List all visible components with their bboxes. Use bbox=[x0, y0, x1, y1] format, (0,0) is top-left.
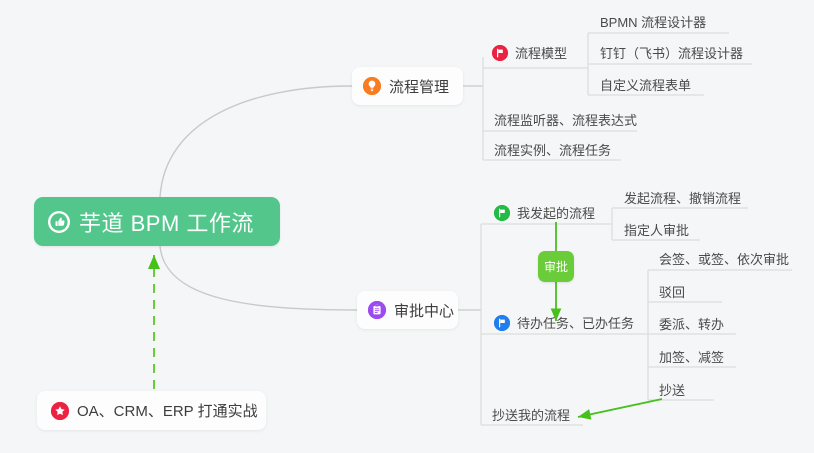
root-label: 芋道 BPM 工作流 bbox=[79, 206, 254, 238]
floating-node-oa-crm-erp[interactable]: OA、CRM、ERP 打通实战 bbox=[37, 391, 266, 430]
leaf-reject[interactable]: 驳回 bbox=[659, 282, 685, 303]
leaf-label-todo-done-tasks: 待办任务、已办任务 bbox=[517, 313, 634, 332]
flag-icon bbox=[494, 205, 510, 221]
branch-node-flow-management[interactable]: 流程管理 bbox=[352, 67, 463, 105]
tag-approve-label: 审批 bbox=[544, 258, 568, 275]
leaf-label-my-started-flows: 我发起的流程 bbox=[517, 203, 595, 222]
star-icon bbox=[51, 402, 69, 420]
floating-label-oa-crm-erp: OA、CRM、ERP 打通实战 bbox=[77, 400, 258, 421]
branch-label-approval-center: 审批中心 bbox=[394, 300, 454, 321]
leaf-start-cancel-flow[interactable]: 发起流程、撤销流程 bbox=[624, 188, 741, 209]
leaf-label-flow-model: 流程模型 bbox=[515, 43, 567, 62]
mindmap-canvas: 芋道 BPM 工作流 流程管理 流程模型 BPMN 流程设计器 钉钉（飞书）流程 bbox=[0, 0, 814, 453]
branch-node-approval-center[interactable]: 审批中心 bbox=[357, 291, 458, 329]
leaf-dingtalk-designer[interactable]: 钉钉（飞书）流程设计器 bbox=[600, 43, 743, 64]
leaf-multi-sign[interactable]: 会签、或签、依次审批 bbox=[659, 249, 789, 270]
leaf-label-delegate-transfer: 委派、转办 bbox=[659, 314, 724, 333]
leaf-flow-instance[interactable]: 流程实例、流程任务 bbox=[494, 140, 611, 161]
leaf-bpmn-designer[interactable]: BPMN 流程设计器 bbox=[600, 12, 706, 33]
flag-icon bbox=[492, 45, 508, 61]
leaf-add-remove-sign[interactable]: 加签、减签 bbox=[659, 347, 724, 368]
leaf-delegate-transfer[interactable]: 委派、转办 bbox=[659, 314, 724, 335]
leaf-label-start-cancel-flow: 发起流程、撤销流程 bbox=[624, 188, 741, 207]
leaf-label-carbon-copy: 抄送 bbox=[659, 380, 685, 399]
flag-icon bbox=[494, 315, 510, 331]
leaf-cc-to-me[interactable]: 抄送我的流程 bbox=[492, 405, 570, 426]
leaf-my-started-flows[interactable]: 我发起的流程 bbox=[494, 203, 595, 224]
leaf-label-multi-sign: 会签、或签、依次审批 bbox=[659, 249, 789, 268]
leaf-label-flow-instance: 流程实例、流程任务 bbox=[494, 140, 611, 159]
branch-label-flow-management: 流程管理 bbox=[389, 76, 449, 97]
root-node[interactable]: 芋道 BPM 工作流 bbox=[34, 197, 280, 246]
thumbs-up-icon bbox=[48, 211, 70, 233]
leaf-custom-form[interactable]: 自定义流程表单 bbox=[600, 75, 691, 96]
tag-approve[interactable]: 审批 bbox=[538, 251, 574, 282]
leaf-label-cc-to-me: 抄送我的流程 bbox=[492, 405, 570, 424]
leaf-flow-model[interactable]: 流程模型 bbox=[492, 43, 567, 64]
leaf-flow-listener[interactable]: 流程监听器、流程表达式 bbox=[494, 110, 637, 131]
leaf-label-add-remove-sign: 加签、减签 bbox=[659, 347, 724, 366]
solid-green-arrow-left bbox=[578, 399, 662, 417]
clipboard-icon bbox=[368, 301, 386, 319]
leaf-todo-done-tasks[interactable]: 待办任务、已办任务 bbox=[494, 313, 634, 334]
leaf-carbon-copy[interactable]: 抄送 bbox=[659, 380, 685, 401]
leaf-assignee-approval[interactable]: 指定人审批 bbox=[624, 220, 689, 241]
leaf-label-bpmn-designer: BPMN 流程设计器 bbox=[600, 12, 706, 31]
leaf-label-flow-listener: 流程监听器、流程表达式 bbox=[494, 110, 637, 129]
leaf-label-dingtalk-designer: 钉钉（飞书）流程设计器 bbox=[600, 43, 743, 62]
leaf-label-assignee-approval: 指定人审批 bbox=[624, 220, 689, 239]
lightbulb-icon bbox=[363, 77, 381, 95]
leaf-label-reject: 驳回 bbox=[659, 282, 685, 301]
leaf-label-custom-form: 自定义流程表单 bbox=[600, 75, 691, 94]
